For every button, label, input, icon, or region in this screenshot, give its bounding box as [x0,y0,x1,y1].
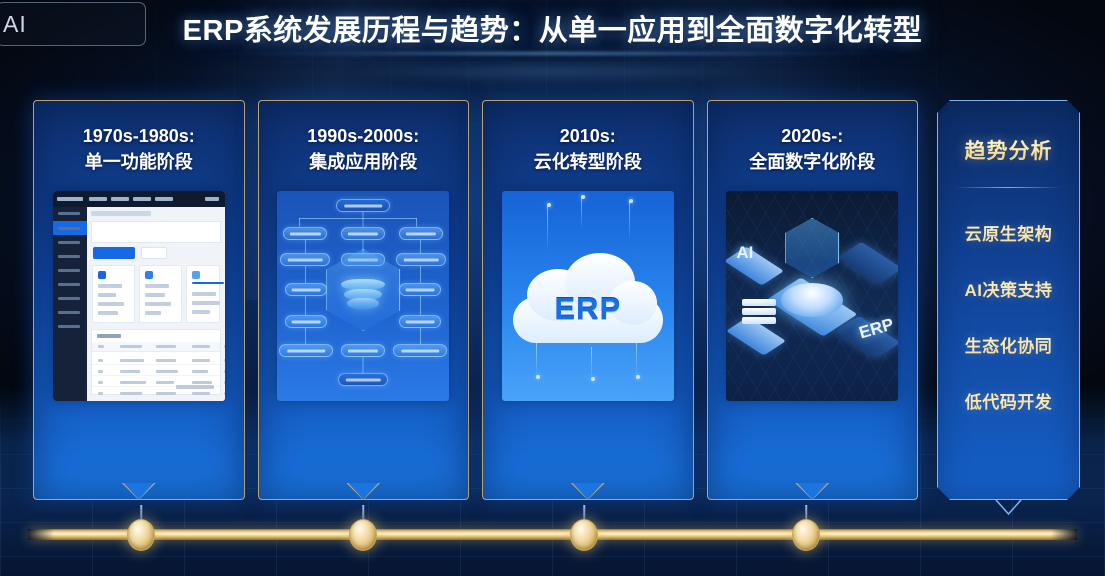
timeline-card-1[interactable]: 1970s-1980s: 单一功能阶段 [33,100,245,500]
iso-ai-label: AI [736,243,753,263]
integration-flowchart-image [277,191,449,401]
card-stage-4: 全面数字化阶段 [749,149,875,175]
card-stage-2: 集成应用阶段 [307,149,419,175]
card-tail-4 [795,483,829,500]
card-period-2: 1990s-2000s: [307,123,419,149]
isometric-platform-image: AI ERP [726,191,898,401]
slide-header: ERP系统发展历程与趋势：从单一应用到全面数字化转型 [0,0,1105,56]
layered-cube-icon [326,249,400,331]
trend-item-cloud-native[interactable]: 云原生架构 [938,204,1079,260]
core-dome-icon [781,283,843,317]
watermark-label: AI [3,11,27,38]
card-heading-2: 1990s-2000s: 集成应用阶段 [299,101,427,181]
trend-item-ai-decision[interactable]: AI决策支持 [938,260,1079,316]
card-period-1: 1970s-1980s: [83,123,195,149]
cloud-erp-image: ERP [502,191,674,401]
watermark-badge: AI [0,2,146,46]
trend-item-ecosystem[interactable]: 生态化协同 [938,316,1079,372]
timeline-card-3[interactable]: 2010s: 云化转型阶段 ERP [482,100,694,500]
trend-panel-title: 趋势分析 [965,135,1053,165]
page-title: ERP系统发展历程与趋势：从单一应用到全面数字化转型 [183,7,923,49]
trend-panel-divider [955,187,1062,188]
timeline-card-2[interactable]: 1990s-2000s: 集成应用阶段 [258,100,470,500]
trend-analysis-panel[interactable]: 趋势分析 云原生架构 AI决策支持 生态化协同 低代码开发 [937,100,1080,500]
card-period-4: 2020s-: [749,123,875,149]
slide-stage: ERP系统发展历程与趋势：从单一应用到全面数字化转型 AI 1970s-1980… [0,0,1105,576]
timeline-node-1[interactable] [127,519,155,551]
card-period-3: 2010s: [534,123,642,149]
card-heading-4: 2020s-: 全面数字化阶段 [741,101,883,181]
cloud-erp-label: ERP [554,291,621,327]
card-heading-3: 2010s: 云化转型阶段 [526,101,650,181]
timeline-bar [28,529,1077,540]
trend-item-lowcode[interactable]: 低代码开发 [938,372,1079,428]
timeline-node-2[interactable] [349,519,377,551]
card-heading-1: 1970s-1980s: 单一功能阶段 [75,101,203,181]
timeline-node-4[interactable] [792,519,820,551]
hologram-hex-icon [785,218,839,278]
timeline-node-3[interactable] [570,519,598,551]
background-horizon-haze [243,66,862,92]
card-tail-2 [346,483,380,500]
timeline-card-4[interactable]: 2020s-: 全面数字化阶段 AI ERP [707,100,919,500]
card-stage-3: 云化转型阶段 [534,149,642,175]
erp-dashboard-image [53,191,225,401]
card-tail-1 [122,483,156,500]
card-tail-3 [571,483,605,500]
card-stage-1: 单一功能阶段 [83,149,195,175]
trend-list: 云原生架构 AI决策支持 生态化协同 低代码开发 [938,204,1079,428]
timeline-cards: 1970s-1980s: 单一功能阶段 [33,100,918,500]
